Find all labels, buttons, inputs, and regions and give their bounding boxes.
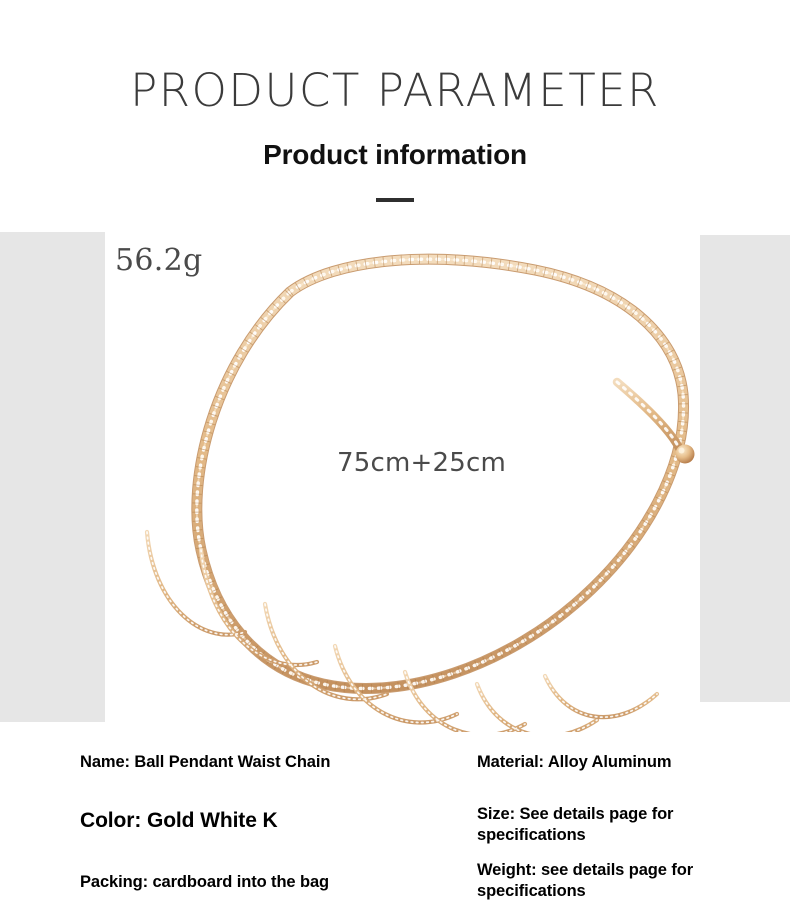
- left-frame-panel: [0, 232, 105, 722]
- spec-name: Name: Ball Pendant Waist Chain: [80, 752, 330, 773]
- ball-pendant: [676, 445, 695, 464]
- page-title: PRODUCT PARAMETER: [0, 68, 790, 113]
- scallop-swags: [147, 532, 657, 732]
- title-divider: [376, 198, 414, 202]
- page-subtitle: Product information: [0, 141, 790, 169]
- length-annotation: 75cm+25cm: [337, 450, 506, 476]
- product-parameter-page: PRODUCT PARAMETER Product information: [0, 0, 790, 924]
- spec-color: Color: Gold White K: [80, 808, 278, 834]
- weight-annotation: 56.2g: [115, 246, 203, 276]
- spec-size: Size: See details page for specification…: [477, 804, 727, 847]
- specification-block: Name: Ball Pendant Waist Chain Color: Go…: [0, 736, 790, 924]
- product-image: [105, 232, 700, 732]
- spec-weight: Weight: see details page for specificati…: [477, 860, 737, 903]
- right-frame-panel: [700, 235, 790, 702]
- spec-material: Material: Alloy Aluminum: [477, 752, 671, 773]
- spec-packing: Packing: cardboard into the bag: [80, 872, 329, 893]
